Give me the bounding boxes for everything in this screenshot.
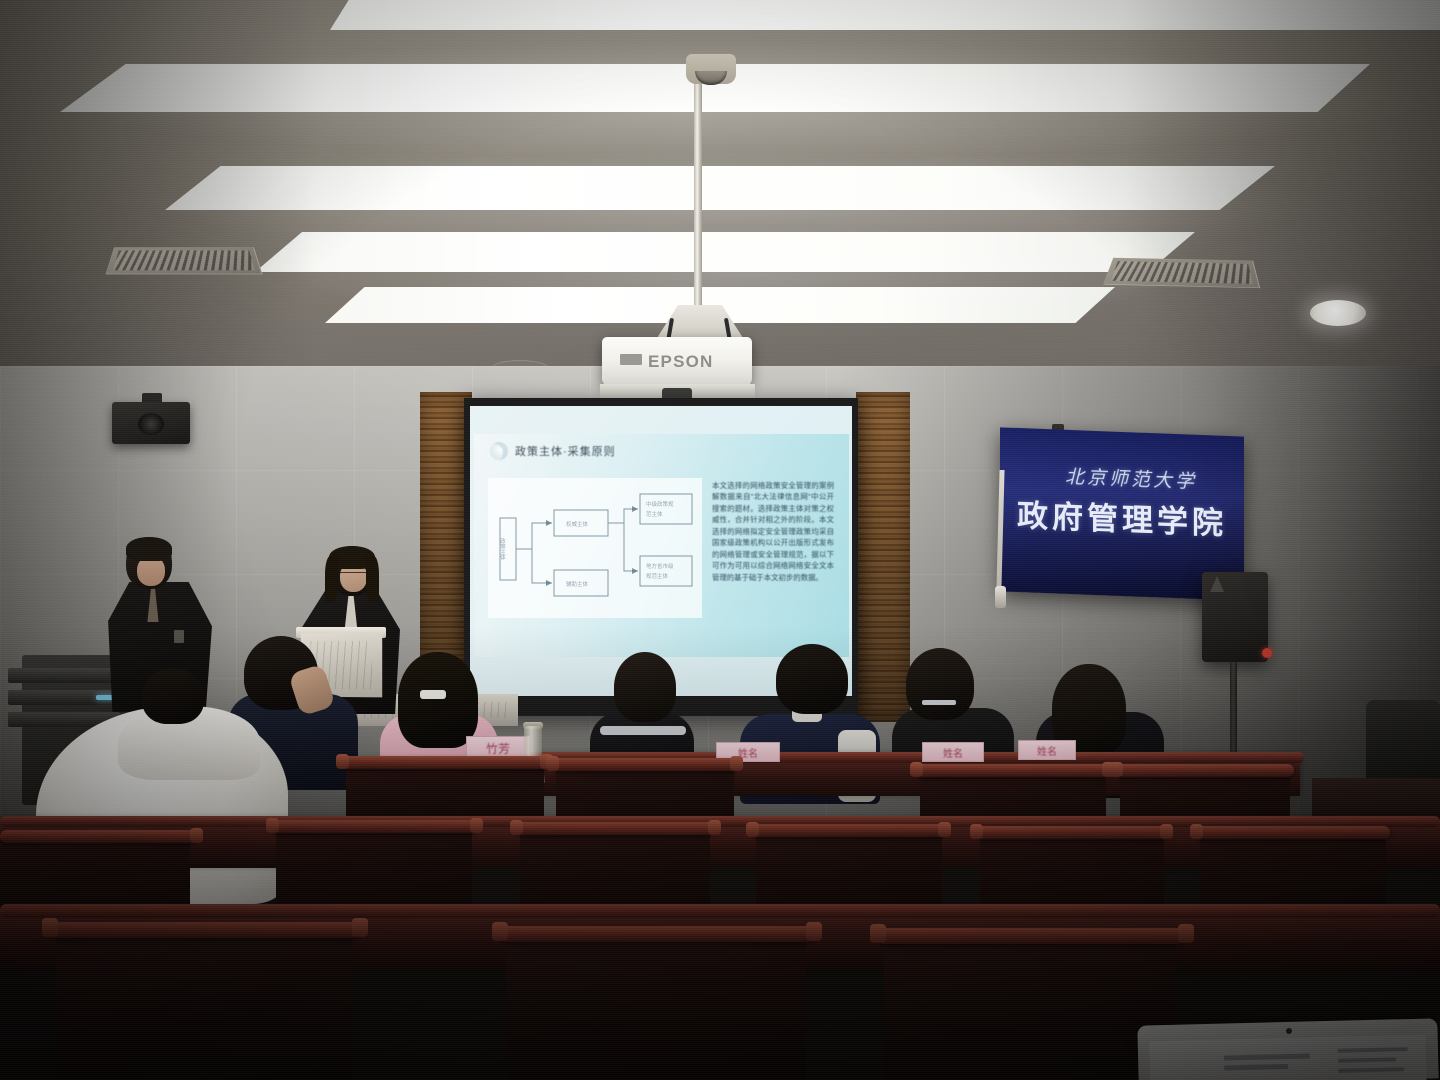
banner-tassel xyxy=(995,586,1006,608)
seat-rail xyxy=(752,824,946,837)
ac-vent-right xyxy=(1103,258,1260,288)
seat-back xyxy=(520,828,710,914)
seat-rail xyxy=(916,764,1110,777)
seat-back xyxy=(276,826,472,912)
seat-rail-cap xyxy=(546,756,559,771)
seat-rail-cap xyxy=(336,754,349,769)
seat-rail xyxy=(272,820,476,833)
seat-rail-cap xyxy=(352,918,368,937)
presenter-lectern-hair-side xyxy=(366,556,379,602)
seat-rail-cap xyxy=(910,762,923,777)
seat-rail-cap xyxy=(1160,824,1173,839)
svg-text:范主体: 范主体 xyxy=(646,510,663,518)
laptop-text-line xyxy=(1338,1047,1408,1053)
seat-rail-cap xyxy=(1190,824,1203,839)
desk-edge xyxy=(0,904,1440,918)
slide-title: 政策主体·采集原则 xyxy=(515,443,616,459)
laptop-text-line xyxy=(1224,1053,1310,1060)
seat-rail xyxy=(50,922,360,938)
presentation-slide: 政策主体·采集原则 xyxy=(474,434,849,657)
rack-slot xyxy=(8,668,120,683)
audience-pink-head xyxy=(398,652,478,748)
seat-rail-cap xyxy=(708,820,721,835)
seat-rail-cap xyxy=(190,828,203,843)
seat-rail xyxy=(976,826,1168,839)
seat-rail-cap xyxy=(1178,924,1194,943)
audience-striped-head xyxy=(614,652,676,722)
seat-rail-cap xyxy=(1110,762,1123,777)
pa-speaker xyxy=(1202,572,1268,662)
glass-jar xyxy=(524,726,542,758)
presenter-lectern-hair-side xyxy=(325,556,338,602)
laptop-text-line xyxy=(1338,1057,1396,1062)
seat-rail-cap xyxy=(970,824,983,839)
ac-vent-left xyxy=(105,247,262,274)
seat-back-foreground xyxy=(506,934,806,1080)
projector-brand-label: EPSON xyxy=(648,352,714,372)
lecture-hall-photo: EPSON 政策主体·采集原则 xyxy=(0,0,1440,1080)
seat-rail xyxy=(878,928,1184,944)
seat-back xyxy=(980,832,1164,914)
speaker-tripod-pole xyxy=(1230,662,1237,760)
seat-rail xyxy=(500,926,814,942)
seat-rail xyxy=(1196,826,1390,839)
seat-rail-cap xyxy=(42,918,58,937)
projector-mount-pole xyxy=(694,84,702,309)
glasses-icon xyxy=(340,572,366,578)
hair-clip xyxy=(420,690,446,699)
moon-icon xyxy=(490,442,508,460)
svg-text:规范主体: 规范主体 xyxy=(646,572,669,580)
seat-rail-cap xyxy=(806,922,822,941)
seat-rail-cap xyxy=(746,822,759,837)
policy-subject-flowchart: 政策主体 权威主体 辅助主体 中级政策规 范主体 地方省市级 规范主体 xyxy=(488,478,702,618)
seat-rail xyxy=(516,822,714,835)
side-chair xyxy=(1366,700,1440,786)
projector-logo-badge xyxy=(620,354,642,365)
seat-rail-cap xyxy=(492,922,508,941)
svg-text:地方省市级: 地方省市级 xyxy=(646,562,674,570)
audience-white-coat-head xyxy=(142,668,204,724)
laptop-text-line xyxy=(1224,1064,1288,1071)
audience-black-lanyard-head xyxy=(906,648,974,720)
svg-text:政策主体: 政策主体 xyxy=(499,537,506,562)
webcam-icon xyxy=(1286,1028,1292,1034)
laptop-screen[interactable] xyxy=(1149,1035,1426,1080)
seat-back-foreground xyxy=(56,930,352,1080)
wood-slat-panel-right xyxy=(856,392,910,722)
banner-school-name: 政府管理学院 xyxy=(1014,490,1230,543)
placard-text: 姓名 xyxy=(1019,741,1075,759)
slide-diagram-panel: 政策主体 权威主体 辅助主体 中级政策规 范主体 地方省市级 规范主体 xyxy=(488,478,702,618)
banner-university-name: 北京师范大学 xyxy=(1056,461,1206,494)
seat-rail xyxy=(342,756,548,769)
seat-rail-cap xyxy=(470,818,483,833)
presenter-badge xyxy=(174,630,184,643)
placard-text: 姓名 xyxy=(923,743,983,761)
seat-back xyxy=(756,830,942,914)
name-placard: 姓名 xyxy=(922,742,984,762)
svg-text:辅助主体: 辅助主体 xyxy=(566,580,589,588)
seat-back-foreground xyxy=(884,936,1176,1080)
seat-rail-cap xyxy=(870,924,886,943)
slide-paragraph: 本文选择的网络政策安全管理的案例解数据来自"北大法律信息网"中公开搜索的题材。选… xyxy=(712,480,834,583)
slide-header: 政策主体·采集原则 xyxy=(490,442,616,460)
seat-rail xyxy=(552,758,738,771)
lanyard xyxy=(922,700,956,705)
sweater-stripe xyxy=(600,726,686,735)
seat-rail-cap xyxy=(266,818,279,833)
recessed-downlight xyxy=(1310,300,1366,326)
smoke-detector-icon xyxy=(686,54,736,84)
seat-rail-cap xyxy=(938,822,951,837)
seat-rail xyxy=(1116,764,1294,777)
svg-text:中级政策规: 中级政策规 xyxy=(646,500,674,508)
seat-rail xyxy=(0,830,196,843)
speaker-power-led xyxy=(1262,648,1272,658)
seat-rail-cap xyxy=(730,756,743,771)
svg-text:权威主体: 权威主体 xyxy=(566,520,589,528)
seat-rail-cap xyxy=(510,820,523,835)
presenter-standing-hair xyxy=(126,537,172,561)
name-placard: 姓名 xyxy=(1018,740,1076,760)
seat-back xyxy=(1200,832,1386,914)
laptop-text-line xyxy=(1338,1067,1404,1073)
wall-speaker xyxy=(112,402,190,444)
audience-blue-vest-head xyxy=(776,644,848,714)
